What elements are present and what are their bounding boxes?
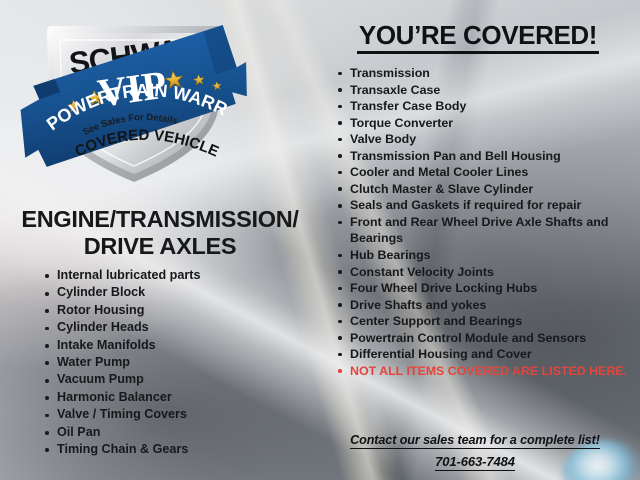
left-title-line-2: DRIVE AXLES (6, 233, 314, 260)
left-column: ENGINE/TRANSMISSION/ DRIVE AXLES Interna… (0, 206, 320, 458)
list-item: Harmonic Balancer (0, 389, 320, 406)
list-item: Clutch Master & Slave Cylinder (310, 181, 640, 198)
list-item: Intake Manifolds (0, 337, 320, 354)
schwan-vip-warranty-badge: SCHWAN VIP POWERTRAIN WARRANTY (18, 8, 250, 190)
list-item: Cooler and Metal Cooler Lines (310, 164, 640, 181)
list-item: Differential Housing and Cover (310, 346, 640, 363)
list-item-disclaimer: NOT ALL ITEMS COVERED ARE LISTED HERE. (310, 363, 640, 380)
left-covered-parts-list: Internal lubricated partsCylinder BlockR… (0, 267, 320, 458)
list-item: Hub Bearings (310, 247, 640, 264)
list-item: Rotor Housing (0, 302, 320, 319)
left-column-title: ENGINE/TRANSMISSION/ DRIVE AXLES (0, 206, 320, 260)
list-item: Valve / Timing Covers (0, 406, 320, 423)
list-item: Vacuum Pump (0, 371, 320, 388)
list-item: Powertrain Control Module and Sensors (310, 330, 640, 347)
list-item: Four Wheel Drive Locking Hubs (310, 280, 640, 297)
left-title-line-1: ENGINE/TRANSMISSION/ (21, 206, 298, 232)
list-item: Transfer Case Body (310, 98, 640, 115)
right-title-wrapper: YOU’RE COVERED! (310, 20, 640, 54)
list-item: Transmission Pan and Bell Housing (310, 148, 640, 165)
list-item: Drive Shafts and yokes (310, 297, 640, 314)
list-item: Valve Body (310, 131, 640, 148)
list-item: Transmission (310, 65, 640, 82)
list-item: Torque Converter (310, 115, 640, 132)
list-item: Cylinder Block (0, 284, 320, 301)
list-item: Seals and Gaskets if required for repair (310, 197, 640, 214)
list-item: Timing Chain & Gears (0, 441, 320, 458)
page-title: YOU’RE COVERED! (357, 20, 599, 54)
right-covered-parts-list: TransmissionTransaxle CaseTransfer Case … (310, 65, 640, 379)
list-item: Cylinder Heads (0, 319, 320, 336)
list-item: Transaxle Case (310, 82, 640, 99)
list-item: Oil Pan (0, 424, 320, 441)
list-item: Constant Velocity Joints (310, 264, 640, 281)
list-item: Front and Rear Wheel Drive Axle Shafts a… (310, 214, 640, 247)
warranty-poster: SCHWAN VIP POWERTRAIN WARRANTY (0, 0, 640, 480)
footer-contact: Contact our sales team for a complete li… (310, 431, 640, 471)
list-item: Water Pump (0, 354, 320, 371)
list-item: Center Support and Bearings (310, 313, 640, 330)
footer-phone-number[interactable]: 701-663-7484 (435, 453, 515, 471)
list-item: Internal lubricated parts (0, 267, 320, 284)
right-column: YOU’RE COVERED! TransmissionTransaxle Ca… (310, 20, 640, 379)
footer-cta-text: Contact our sales team for a complete li… (350, 432, 600, 449)
